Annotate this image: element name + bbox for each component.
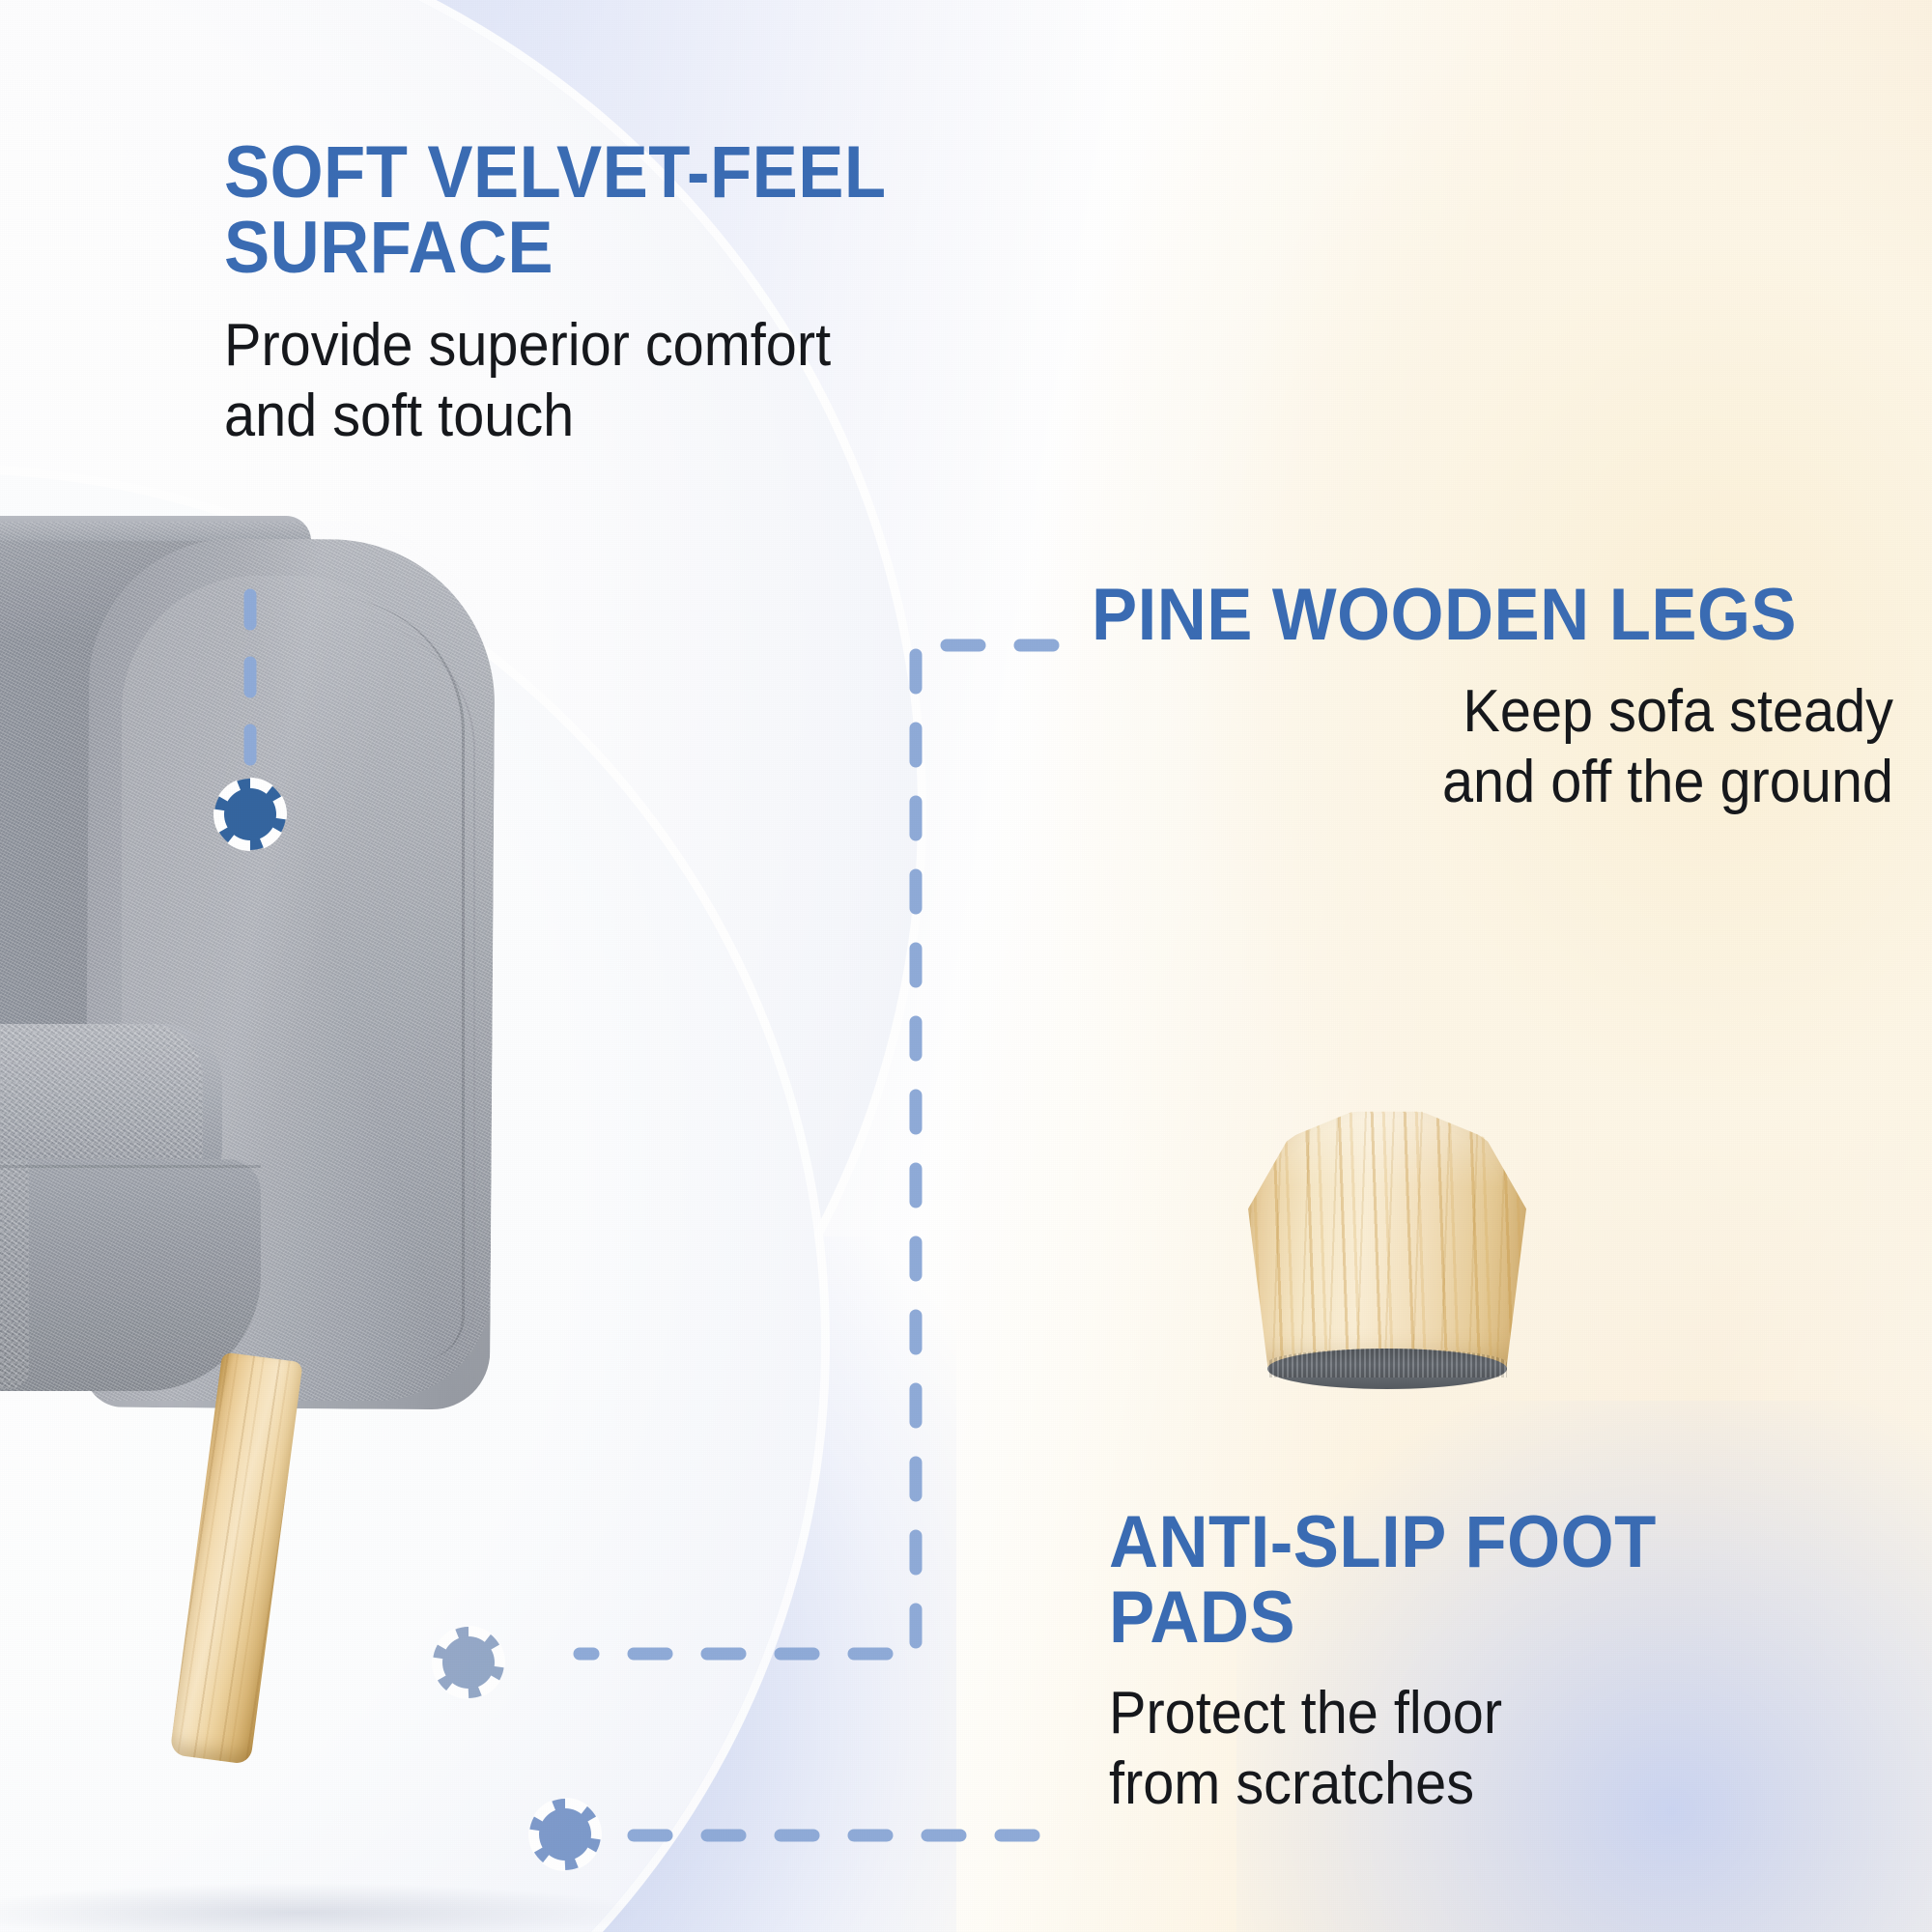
infographic-canvas: SOFT VELVET-FEEL SURFACE Provide superio… xyxy=(0,0,1932,1932)
image-grain-overlay xyxy=(0,0,1932,1932)
